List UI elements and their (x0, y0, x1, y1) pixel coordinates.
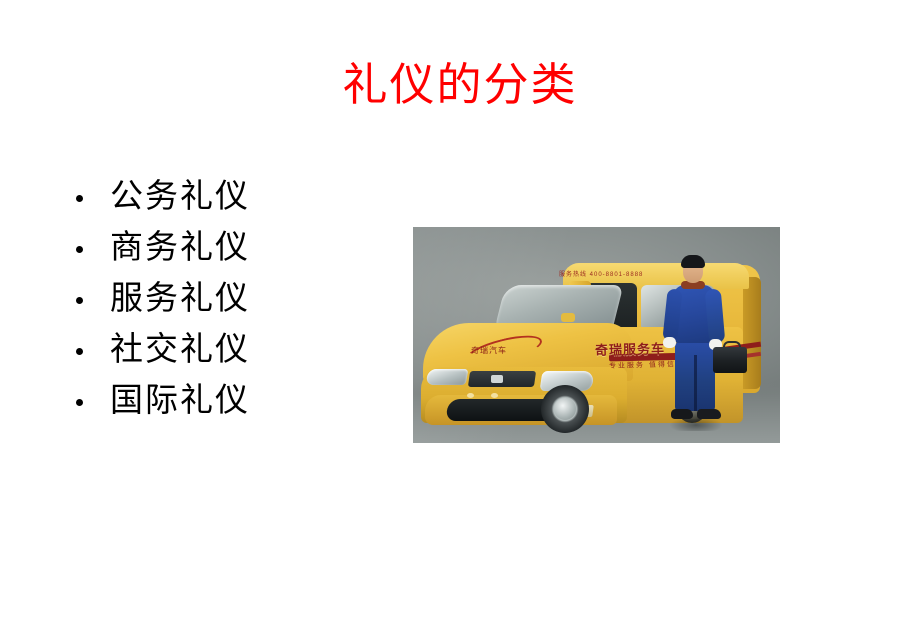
technician-shoe-right (697, 409, 721, 419)
van-air-intake (446, 399, 556, 421)
bullet-dot-icon (76, 246, 83, 253)
list-item: 公务礼仪 (68, 172, 398, 223)
van-roof-text: 服务热线 400-8801-8888 (559, 269, 643, 278)
list-item-label: 社交礼仪 (110, 332, 250, 368)
van-headlight-left (426, 369, 469, 385)
bullet-dot-icon (76, 195, 83, 202)
bullet-list: 公务礼仪 商务礼仪 服务礼仪 社交礼仪 国际礼仪 (68, 172, 398, 427)
technician-arm-right (705, 288, 726, 343)
van-side-text: 奇瑞服务车 (595, 338, 665, 359)
bullet-dot-icon (76, 399, 83, 406)
service-van-photo: 服务热线 400-8801-8888 奇瑞服务车 专业服务 值得信赖 奇瑞汽车 (413, 227, 780, 443)
bullet-dot-icon (76, 348, 83, 355)
van-badge (491, 375, 503, 383)
slide: 礼仪的分类 公务礼仪 商务礼仪 服务礼仪 社交礼仪 国际礼仪 (0, 0, 920, 636)
list-item: 服务礼仪 (68, 274, 398, 325)
list-item-label: 商务礼仪 (110, 230, 250, 266)
hood-logo-text: 奇瑞汽车 (471, 345, 507, 356)
list-item: 国际礼仪 (68, 376, 398, 427)
list-item-label: 公务礼仪 (110, 179, 250, 215)
van-fog-lamp-left (467, 393, 474, 398)
technician-shoe-left (671, 409, 693, 419)
hood-logo: 奇瑞汽车 (465, 339, 543, 361)
van-side-mirror (561, 313, 575, 322)
list-item-label: 服务礼仪 (110, 281, 250, 317)
page-title: 礼仪的分类 (0, 58, 920, 112)
technician-glove-left (663, 337, 676, 348)
bullet-dot-icon (76, 297, 83, 304)
van-fog-lamp-right (491, 393, 498, 398)
technician-figure (657, 251, 735, 429)
technician-shadow (661, 419, 731, 431)
list-item-label: 国际礼仪 (110, 383, 250, 419)
van-front-wheel-hub (554, 398, 576, 420)
list-item: 商务礼仪 (68, 223, 398, 274)
photo-canvas: 服务热线 400-8801-8888 奇瑞服务车 专业服务 值得信赖 奇瑞汽车 (413, 227, 780, 443)
technician-leg-split (694, 355, 697, 411)
technician-hair (681, 255, 705, 268)
list-item: 社交礼仪 (68, 325, 398, 376)
toolbox (713, 347, 747, 373)
